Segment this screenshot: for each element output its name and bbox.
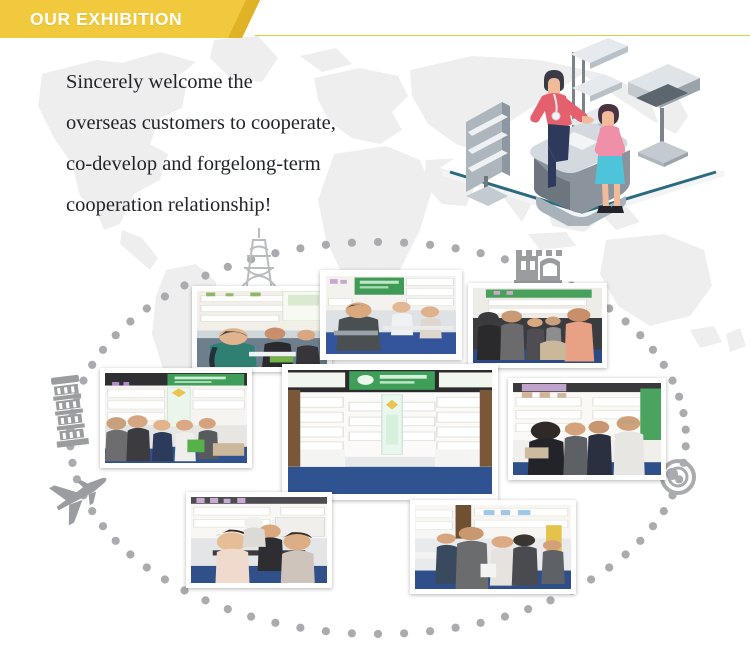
photo-image xyxy=(288,370,492,494)
ring-dot xyxy=(587,575,595,583)
ring-dot xyxy=(605,563,613,571)
ring-dot xyxy=(66,442,74,450)
photo-image xyxy=(513,383,661,475)
ring-dot xyxy=(296,244,304,252)
ring-dot xyxy=(88,507,96,515)
photo-booth-meeting-table[interactable] xyxy=(192,286,332,372)
welcome-paragraph: Sincerely welcome the overseas customers… xyxy=(66,62,466,226)
photo-booth-green-signage[interactable] xyxy=(100,368,252,468)
photo-image xyxy=(326,276,456,354)
ring-dot xyxy=(247,613,255,621)
ring-dot xyxy=(374,238,382,246)
welcome-line-4: cooperation relationship! xyxy=(66,185,466,226)
ring-dot xyxy=(477,619,485,627)
ring-dot xyxy=(112,331,120,339)
ring-dot xyxy=(126,317,134,325)
ring-dot xyxy=(675,393,683,401)
ring-dot xyxy=(79,377,87,385)
ring-dot xyxy=(374,630,382,638)
photo-image xyxy=(105,373,247,463)
leaning-tower-of-pisa-icon xyxy=(49,374,89,447)
ring-dot xyxy=(660,507,668,515)
ring-dot xyxy=(660,361,668,369)
welcome-line-2: overseas customers to cooperate, xyxy=(66,103,466,144)
ring-dot xyxy=(477,249,485,257)
ring-dot xyxy=(112,537,120,545)
ring-dot xyxy=(636,537,644,545)
ring-dot xyxy=(682,426,690,434)
ring-dot xyxy=(66,426,74,434)
ring-dot xyxy=(143,563,151,571)
ring-dot xyxy=(679,459,687,467)
ring-dot xyxy=(224,605,232,613)
ring-dot xyxy=(524,263,532,271)
ring-dot xyxy=(546,596,554,604)
target-marker-icon xyxy=(662,461,694,493)
ring-dot xyxy=(247,255,255,263)
page-title: OUR EXHIBITION xyxy=(30,0,182,38)
ring-dot xyxy=(452,624,460,632)
ring-dot xyxy=(682,442,690,450)
ring-dot xyxy=(322,241,330,249)
header-rule xyxy=(255,35,750,36)
ring-dot xyxy=(400,239,408,247)
ring-dot xyxy=(143,304,151,312)
photo-booth-negotiation[interactable] xyxy=(186,492,332,588)
ring-dot xyxy=(426,241,434,249)
ring-dot xyxy=(73,393,81,401)
photo-image xyxy=(415,505,571,589)
ring-dot xyxy=(322,627,330,635)
ring-dot xyxy=(622,317,630,325)
ring-dot xyxy=(501,255,509,263)
ring-dot xyxy=(161,292,169,300)
photo-image xyxy=(197,291,327,367)
ring-dot xyxy=(668,377,676,385)
ring-dot xyxy=(201,272,209,280)
ring-dot xyxy=(68,459,76,467)
target-marker-dot xyxy=(666,468,678,480)
ring-dot xyxy=(622,550,630,558)
photo-booth-crowd-visitors[interactable] xyxy=(468,283,607,368)
ring-dot xyxy=(224,263,232,271)
ring-dot xyxy=(99,346,107,354)
exhibition-page: OUR EXHIBITION Sincerely welcome the ove… xyxy=(0,0,750,652)
photo-booth-seated-discussion[interactable] xyxy=(320,270,462,360)
airplane-icon xyxy=(47,462,117,526)
photo-booth-busy-aisle[interactable] xyxy=(410,500,576,594)
ring-dot xyxy=(636,331,644,339)
ring-dot xyxy=(161,575,169,583)
ring-dot xyxy=(348,629,356,637)
welcome-line-3: co-develop and forgelong-term xyxy=(66,144,466,185)
isometric-exhibition-booth-illustration xyxy=(432,36,732,226)
ring-dot xyxy=(649,522,657,530)
ring-dot xyxy=(99,522,107,530)
ring-dot xyxy=(501,613,509,621)
ring-dot xyxy=(524,605,532,613)
ring-dot xyxy=(201,596,209,604)
ring-dot xyxy=(348,239,356,247)
welcome-line-1: Sincerely welcome the xyxy=(66,62,466,103)
ring-dot xyxy=(452,244,460,252)
ring-dot xyxy=(73,475,81,483)
ring-dot xyxy=(400,629,408,637)
ring-dot xyxy=(180,281,188,289)
ring-dot xyxy=(271,619,279,627)
photo-image xyxy=(473,288,602,363)
ring-dot xyxy=(675,475,683,483)
ring-dot xyxy=(126,550,134,558)
ring-dot xyxy=(426,627,434,635)
ring-dot xyxy=(668,491,676,499)
photo-image xyxy=(191,497,327,583)
ring-dot xyxy=(546,272,554,280)
section-header-ribbon: OUR EXHIBITION xyxy=(0,0,260,38)
ring-dot xyxy=(79,491,87,499)
ring-dot xyxy=(88,361,96,369)
ring-dot xyxy=(68,409,76,417)
ring-dot xyxy=(296,624,304,632)
photo-booth-shelf-browsing[interactable] xyxy=(508,378,666,480)
eiffel-tower-icon xyxy=(236,228,282,292)
photo-booth-interior-showcase[interactable] xyxy=(282,364,498,500)
ring-dot xyxy=(271,249,279,257)
ring-dot xyxy=(679,409,687,417)
ring-dot xyxy=(649,346,657,354)
